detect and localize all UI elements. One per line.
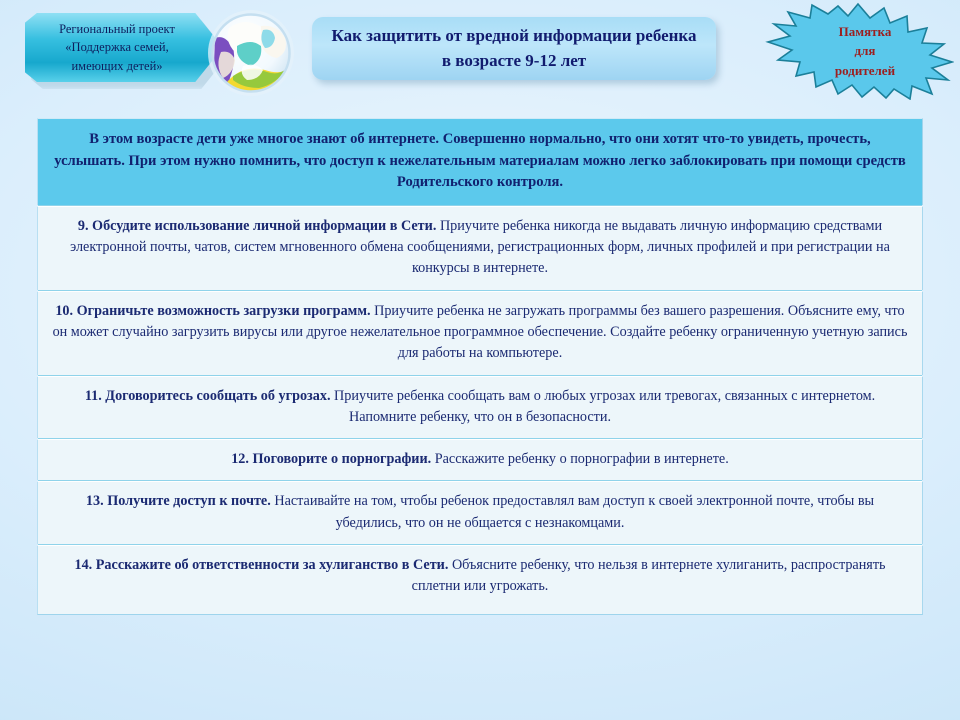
status-badge-line-2: для	[855, 41, 876, 61]
tip-lead: 12. Поговорите о порнографии.	[231, 451, 431, 467]
project-plaque-line-1: Региональный проект	[59, 20, 175, 38]
tip-lead: 10. Ограничьте возможность загрузки прог…	[55, 303, 370, 319]
family-circle-emblem-icon	[203, 8, 299, 98]
list-item: 10. Ограничьте возможность загрузки прог…	[37, 291, 923, 375]
project-plaque: Региональный проект «Поддержка семей, им…	[25, 13, 223, 82]
tip-body: Настаивайте на том, чтобы ребенок предос…	[271, 493, 874, 530]
status-badge: Памятка для родителей	[762, 2, 954, 100]
page-title: Как защитить от вредной информации ребен…	[312, 17, 716, 80]
project-plaque-line-3: имеющих детей»	[71, 57, 162, 75]
tip-lead: 9. Обсудите использование личной информа…	[78, 218, 437, 234]
tips-panel: В этом возрасте дети уже многое знают об…	[37, 118, 923, 615]
intro-text-box: В этом возрасте дети уже многое знают об…	[37, 118, 923, 205]
tip-body: Расскажите ребенку о порнографии в интер…	[431, 451, 729, 467]
tip-lead: 11. Договоритесь сообщать об угрозах.	[85, 388, 331, 404]
page-title-text: Как защитить от вредной информации ребен…	[326, 24, 702, 73]
tip-lead: 14. Расскажите об ответственности за хул…	[74, 557, 448, 573]
status-badge-line-1: Памятка	[839, 22, 892, 42]
tip-lead: 13. Получите доступ к почте.	[86, 493, 271, 509]
project-plaque-line-2: «Поддержка семей,	[65, 38, 168, 56]
tip-body: Приучите ребенка сообщать вам о любых уг…	[331, 388, 876, 425]
list-item: 11. Договоритесь сообщать об угрозах. Пр…	[37, 376, 923, 439]
status-badge-line-3: родителей	[835, 61, 895, 81]
tip-body: Объясните ребенку, что нельзя в интернет…	[412, 557, 886, 594]
list-item: 13. Получите доступ к почте. Настаивайте…	[37, 481, 923, 544]
list-item: 14. Расскажите об ответственности за хул…	[37, 545, 923, 615]
list-item: 9. Обсудите использование личной информа…	[37, 206, 923, 290]
intro-text: В этом возрасте дети уже многое знают об…	[54, 131, 906, 190]
status-badge-label: Памятка для родителей	[762, 2, 954, 100]
page-header: Региональный проект «Поддержка семей, им…	[0, 0, 960, 108]
list-item: 12. Поговорите о порнографии. Расскажите…	[37, 439, 923, 480]
